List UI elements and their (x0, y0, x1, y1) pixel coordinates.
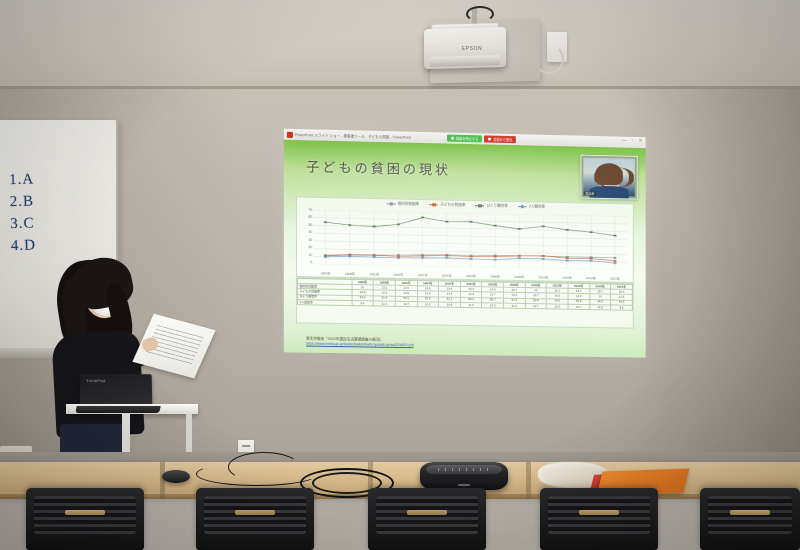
data-table-container: 1985年1988年1991年1994年1997年2000年2003年2006年… (296, 277, 634, 329)
legend-label: ひとり親世帯 (486, 203, 507, 208)
table-cell: 10.2 (504, 303, 526, 309)
table-cell: 11.5 (460, 302, 482, 308)
meeting-controls[interactable]: 録画を停止する 会議から退出 (447, 134, 516, 145)
speakerphone-button-row (438, 468, 490, 471)
table-cell: 10.7 (568, 304, 589, 310)
y-tick: 0 (310, 260, 312, 264)
data-table: 1985年1988年1991年1994年1997年2000年2003年2006年… (297, 278, 633, 311)
legend-marker-icon (518, 206, 527, 208)
laptop-keyboard-base (75, 406, 160, 413)
chair-handle-3 (407, 510, 447, 515)
x-tick: 1994年 (386, 272, 410, 277)
recording-button[interactable]: 録画を停止する (447, 135, 482, 143)
x-tick: 2021年 (603, 275, 627, 280)
table-cell: 11.2 (589, 305, 610, 311)
minimize-icon[interactable]: — (622, 138, 627, 144)
legend-item-2: ひとり親世帯 (475, 203, 507, 209)
webcam-hair-sides (594, 167, 634, 188)
citation-url[interactable]: https://www.mhlw.go.jp/toukei/saikin/hw/… (306, 341, 413, 348)
conference-speakerphone (420, 462, 508, 490)
table-cell: 8.6 (611, 305, 632, 311)
citation: 厚生労働省「2022年国民生活基礎調査の概況」 https://www.mhlw… (306, 336, 413, 348)
window-title: PowerPoint スライド ショー - 発表者ツール 子どもの貧困 - Po… (295, 132, 411, 140)
table-cell: 10.5 (482, 303, 504, 309)
y-tick: 30 (308, 238, 312, 242)
close-icon[interactable]: ✕ (639, 138, 643, 144)
y-tick: 60 (308, 215, 312, 219)
slide-canvas: 子どもの貧困の現状 発表者 相対的貧困率子どもの貧困率ひとり親世帯2人親世帯 7… (284, 140, 646, 358)
classroom-screenshot: 1.A 2.B 3.C 4.D EPSON PowerPoint スライド ショ… (0, 0, 800, 550)
chart-y-axis-labels: 706050403020100 (300, 208, 312, 265)
chair-handle-5 (730, 510, 770, 515)
y-tick: 70 (308, 208, 312, 212)
chair-1 (26, 488, 144, 550)
webcam-name-label: 発表者 (583, 192, 596, 196)
legend-label: 子どもの貧困率 (440, 202, 465, 208)
chair-handle-1 (65, 510, 105, 515)
stop-label: 会議から退出 (493, 137, 512, 142)
chair-handle-2 (235, 510, 275, 515)
record-dot-icon (451, 137, 454, 140)
table-seam-3 (526, 462, 531, 499)
wall-plate-cable (534, 44, 564, 74)
projector-lens-housing (430, 55, 500, 67)
chart-plot-area (313, 210, 627, 270)
microphone-puck (162, 470, 190, 483)
projector-cable (466, 6, 494, 22)
stop-square-icon (488, 138, 491, 141)
legend-item-1: 子どもの貧困率 (429, 202, 465, 208)
x-tick: 2015年 (555, 275, 579, 280)
legend-marker-icon (429, 204, 438, 206)
line-chart: 相対的貧困率子どもの貧困率ひとり親世帯2人親世帯 706050403020100… (296, 196, 634, 283)
slide-title: 子どもの貧困の現状 (306, 156, 451, 178)
table-cell: 12.7 (525, 303, 547, 309)
speakerphone-led (458, 484, 470, 486)
recording-label: 録画を停止する (456, 136, 478, 142)
powerpoint-icon (287, 131, 293, 137)
leave-meeting-button[interactable]: 会議から退出 (484, 135, 516, 143)
table-cell: 10.7 (395, 301, 417, 307)
table-cell: 10.2 (417, 302, 439, 308)
maximize-icon[interactable]: ▫ (632, 138, 634, 144)
chair-handle-4 (579, 510, 619, 515)
wall-shadow-right (620, 89, 800, 469)
chart-svg (313, 210, 627, 270)
legend-marker-icon (387, 203, 396, 205)
x-tick: 2000年 (435, 272, 459, 277)
x-tick: 1997年 (411, 272, 435, 277)
presenter (38, 256, 168, 456)
legend-item-0: 相対的貧困率 (387, 201, 420, 207)
y-tick: 40 (308, 230, 312, 234)
x-tick: 2012年 (531, 274, 555, 279)
laptop-brand-label: ThinkPad (86, 378, 105, 383)
chair-3 (368, 488, 486, 550)
chair-4 (540, 488, 658, 550)
projector-brand-label: EPSON (452, 46, 492, 52)
x-tick: 1985年 (313, 270, 337, 275)
x-tick: 1991年 (362, 271, 386, 276)
chair-5 (700, 488, 800, 550)
legend-label: 相対的貧困率 (398, 202, 420, 207)
ceiling (0, 0, 800, 92)
table-cell: 11.1 (373, 301, 395, 307)
legend-item-3: 2人親世帯 (518, 204, 545, 210)
webcam-tile[interactable]: 発表者 (580, 155, 637, 200)
powerpoint-window[interactable]: PowerPoint スライド ショー - 発表者ツール 子どもの貧困 - Po… (284, 129, 646, 358)
legend-label: 2人親世帯 (529, 204, 545, 209)
y-tick: 20 (308, 245, 312, 249)
projected-screen: PowerPoint スライド ショー - 発表者ツール 子どもの貧困 - Po… (284, 129, 646, 358)
whiteboard-note: 1.A 2.B 3.C 4.D (9, 167, 97, 257)
x-tick: 2006年 (483, 273, 507, 278)
window-controls[interactable]: — ▫ ✕ (622, 138, 643, 144)
x-tick: 2003年 (459, 273, 483, 278)
y-tick: 50 (308, 223, 312, 227)
table-cell: 10.8 (439, 302, 461, 308)
table-row-label: 2人親世帯 (298, 300, 352, 306)
y-tick: 10 (308, 253, 312, 257)
x-tick: 1988年 (338, 271, 362, 276)
x-tick: 2009年 (507, 274, 531, 279)
table-cell: 12.4 (547, 304, 568, 310)
table-cell: 9.6 (352, 300, 374, 306)
legend-marker-icon (475, 205, 484, 207)
x-tick: 2018年 (579, 275, 603, 280)
podium-leg-right (186, 414, 192, 454)
laptop-screen: ThinkPad (80, 374, 153, 408)
chair-2 (196, 488, 314, 550)
